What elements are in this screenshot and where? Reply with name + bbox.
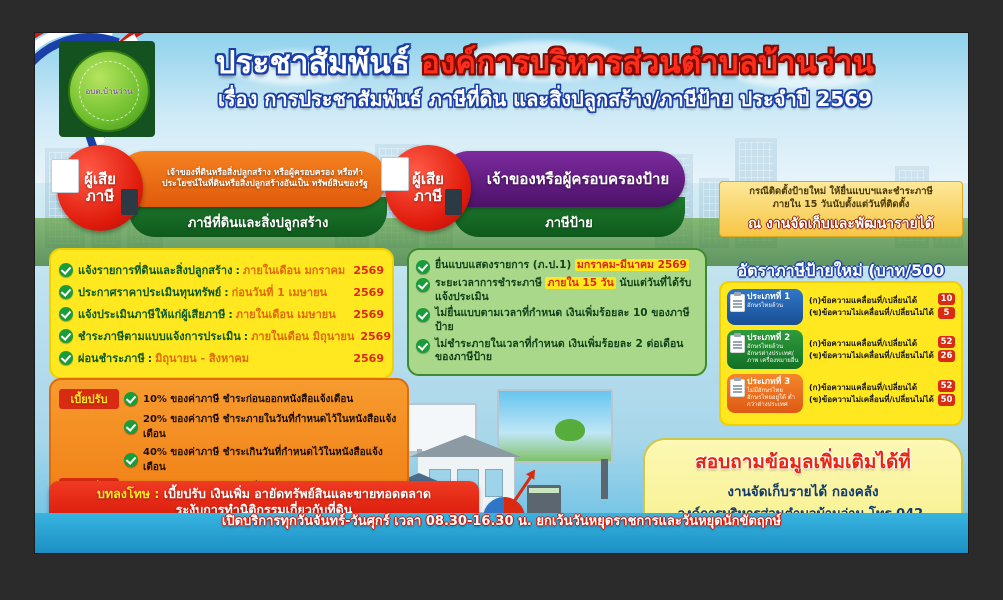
- schedule-value: ภายในเดือน มกราคม: [243, 261, 345, 279]
- schedule-value: ภายในเดือน มิถุนายน: [251, 327, 354, 345]
- rate-values: 105: [938, 293, 955, 321]
- sign-rule-row: ไม่ยื่นแบบตามเวลาที่กำหนด เงินเพิ่มร้อยล…: [416, 307, 698, 334]
- schedule-row: ชำระภาษีตามแบบแจ้งการประเมิน:ภายในเดือน …: [59, 327, 384, 345]
- rate-conditions: (ก)ข้อความแคลื่อนที่/เปลี่ยนได้(ข)ข้อควา…: [803, 382, 938, 405]
- schedule-row: แจ้งประเมินภาษีให้แก่ผู้เสียภาษี:ภายในเด…: [59, 305, 384, 323]
- check-icon: [124, 420, 138, 434]
- rate-condition: (ก)ข้อความแคลื่อนที่/เปลี่ยนได้: [809, 382, 938, 394]
- penalty-tag: [59, 426, 119, 428]
- check-icon: [59, 285, 73, 299]
- rate-values: 5226: [938, 336, 955, 364]
- rate-category-name: ประเภทที่ 2: [747, 334, 799, 343]
- title-part-one: ประชาสัมพันธ์: [216, 45, 421, 81]
- clipboard-check-icon: [730, 379, 745, 397]
- penalty-text: 10% ของค่าภาษี ชำระก่อนออกหนังสือแจ้งเตื…: [143, 392, 353, 407]
- check-icon: [416, 260, 430, 274]
- sign-rule-row: ระยะเวลาการชำระภาษี ภายใน 15 วัน นับแต่ว…: [416, 277, 698, 304]
- rate-values: 5250: [938, 380, 955, 408]
- schedule-year: 2569: [347, 308, 384, 321]
- sign-rule-row: ไม่ชำระภายในเวลาที่กำหนด เงินเพิ่มร้อยละ…: [416, 338, 698, 365]
- penalty-text: 40% ของค่าภาษี ชำระเกินวันที่กำหนดไว้ในห…: [143, 445, 399, 475]
- penalty-tag: เบี้ยปรับ: [59, 389, 119, 409]
- check-icon: [59, 329, 73, 343]
- new-sign-notice-line2: ภายใน 15 วันนับตั้งแต่วันที่ติดตั้ง: [720, 199, 962, 212]
- penalty-row: 20% ของค่าภาษี ชำระภายในวันที่กำหนดไว้ใน…: [59, 412, 399, 442]
- schedule-separator: :: [228, 308, 232, 321]
- payer-sign-label-2: ภาษี: [414, 188, 442, 205]
- new-sign-notice-office: ณ งานจัดเก็บและพัฒนารายได้: [720, 213, 962, 235]
- schedule-year: 2569: [347, 264, 384, 277]
- contact-heading: สอบถามข้อมูลเพิ่มเติมได้ที่: [655, 447, 951, 477]
- schedule-label: ชำระภาษีตามแบบแจ้งการประเมิน: [78, 327, 241, 345]
- calculator-icon: [121, 189, 138, 215]
- schedule-separator: :: [235, 264, 239, 277]
- schedule-year: 2569: [347, 352, 384, 365]
- schedule-separator: :: [224, 286, 228, 299]
- schedule-value: ก่อนวันที่ 1 เมษายน: [232, 283, 327, 301]
- rate-conditions: (ก)ข้อความแคลื่อนที่/เปลี่ยนได้(ข)ข้อควา…: [803, 338, 938, 361]
- contact-department: งานจัดเก็บรายได้ กองคลัง: [655, 480, 951, 502]
- schedule-year: 2569: [347, 286, 384, 299]
- organization-logo: อบต.บ้านว่าน: [59, 41, 155, 137]
- rate-category-name: ประเภทที่ 3: [747, 378, 799, 387]
- payer-sign-description: เจ้าของหรือผู้ครอบครองป้าย: [441, 167, 685, 191]
- schedule-label: ผ่อนชำระภาษี: [78, 349, 145, 367]
- rate-category: ประเภทที่ 3ไม่มีอักษรไทย อักษรไทยอยู่ใต้…: [727, 374, 803, 413]
- penalty-text: 20% ของค่าภาษี ชำระภายในวันที่กำหนดไว้ใน…: [143, 412, 399, 442]
- sign-tax-rate-table: ประเภทที่ 1อักษรไทยล้วน(ก)ข้อความแคลื่อน…: [719, 281, 963, 426]
- penalty-row: 40% ของค่าภาษี ชำระเกินวันที่กำหนดไว้ในห…: [59, 445, 399, 475]
- sign-tax-rules-box: ยื่นแบบแสดงรายการ (ภ.ป.1) มกราคม-มีนาคม …: [407, 248, 707, 376]
- check-icon: [416, 308, 430, 322]
- schedule-row: ผ่อนชำระภาษี:มิถุนายน - สิงหาคม2569: [59, 349, 384, 367]
- rate-condition: (ก)ข้อความแคลื่อนที่/เปลี่ยนได้: [809, 338, 938, 350]
- land-tax-schedule-box: แจ้งรายการที่ดินและสิ่งปลูกสร้าง:ภายในเด…: [49, 248, 394, 379]
- schedule-row: แจ้งรายการที่ดินและสิ่งปลูกสร้าง:ภายในเด…: [59, 261, 384, 279]
- payer-land-label-1: ผู้เสีย: [84, 171, 116, 188]
- rate-value: 26: [938, 350, 955, 362]
- clipboard-check-icon: [730, 294, 745, 312]
- rate-category-desc: อักษรไทยล้วน: [747, 303, 799, 310]
- check-icon: [59, 263, 73, 277]
- rate-value: 52: [938, 336, 955, 348]
- sign-rule-text: ยื่นแบบแสดงรายการ (ภ.ป.1) มกราคม-มีนาคม …: [435, 259, 689, 274]
- rate-category-desc: ไม่มีอักษรไทย อักษรไทยอยู่ใต้ ต่ำกว่าต่า…: [747, 388, 799, 409]
- document-icon: [51, 159, 79, 193]
- poster-canvas: อบต.บ้านว่าน ประชาสัมพันธ์ องค์การบริหาร…: [35, 33, 968, 553]
- schedule-value: ภายในเดือน เมษายน: [236, 305, 336, 323]
- house-roof: [409, 435, 521, 457]
- rate-value: 10: [938, 293, 955, 305]
- new-sign-notice-line1: กรณีติดตั้งป้ายใหม่ ให้ยื่นแบบฯและชำระภา…: [720, 186, 962, 199]
- rate-value: 52: [938, 380, 955, 392]
- rate-value: 50: [938, 394, 955, 406]
- payer-sign-label-1: ผู้เสีย: [412, 171, 444, 188]
- document-icon: [381, 157, 409, 191]
- highlight-text: มกราคม-มีนาคม 2569: [575, 259, 689, 271]
- billboard-tree-graphic: [555, 419, 585, 441]
- schedule-row: ประกาศราคาประเมินทุนทรัพย์:ก่อนวันที่ 1 …: [59, 283, 384, 301]
- schedule-label: แจ้งประเมินภาษีให้แก่ผู้เสียภาษี: [78, 305, 225, 323]
- highlight-text: ภายใน 15 วัน: [545, 277, 615, 289]
- rate-row: ประเภทที่ 3ไม่มีอักษรไทย อักษรไทยอยู่ใต้…: [727, 374, 955, 413]
- rate-row: ประเภทที่ 2อักษรไทยล้วน อักษรต่างประเทศ/…: [727, 330, 955, 369]
- check-icon: [416, 278, 430, 292]
- schedule-label: แจ้งรายการที่ดินและสิ่งปลูกสร้าง: [78, 261, 232, 279]
- rate-condition: (ข)ข้อความไม่เคลื่อนที่/เปลี่ยนไม่ได้: [809, 350, 938, 362]
- check-icon: [59, 307, 73, 321]
- schedule-separator: :: [244, 330, 248, 343]
- schedule-separator: :: [148, 352, 152, 365]
- logo-label: อบต.บ้านว่าน: [79, 61, 139, 121]
- punishment-line1: เบี้ยปรับ เงินเพิ่ม อายัดทรัพย์สินและขาย…: [164, 486, 431, 501]
- rate-category: ประเภทที่ 1อักษรไทยล้วน: [727, 289, 803, 325]
- page-subtitle: เรื่อง การประชาสัมพันธ์ ภาษีที่ดิน และสิ…: [175, 83, 915, 115]
- page-title: ประชาสัมพันธ์ องค์การบริหารส่วนตำบลบ้านว…: [175, 47, 915, 115]
- rate-conditions: (ก)ข้อความแคลื่อนที่/เปลี่ยนได้(ข)ข้อควา…: [803, 295, 938, 318]
- payer-badge-sign: ภาษีป้าย เจ้าของหรือผู้ครอบครองป้าย ผู้เ…: [385, 145, 685, 240]
- schedule-label: ประกาศราคาประเมินทุนทรัพย์: [78, 283, 221, 301]
- payer-land-description: เจ้าของที่ดินหรือสิ่งปลูกสร้าง หรือผู้คร…: [117, 168, 387, 191]
- rate-value: 5: [938, 307, 955, 319]
- rate-category: ประเภทที่ 2อักษรไทยล้วน อักษรต่างประเทศ/…: [727, 330, 803, 369]
- schedule-value: มิถุนายน - สิงหาคม: [155, 349, 249, 367]
- sign-rule-text: ระยะเวลาการชำระภาษี ภายใน 15 วัน นับแต่ว…: [435, 277, 698, 304]
- sign-rule-text: ไม่ชำระภายในเวลาที่กำหนด เงินเพิ่มร้อยละ…: [435, 338, 698, 365]
- check-icon: [59, 351, 73, 365]
- title-part-two: องค์การบริหารส่วนตำบลบ้านว่าน: [421, 45, 874, 81]
- rate-category-name: ประเภทที่ 1: [747, 293, 799, 302]
- check-icon: [124, 392, 138, 406]
- rate-category-desc: อักษรไทยล้วน อักษรต่างประเทศ/ภาพ เครื่อง…: [747, 344, 799, 365]
- rate-row: ประเภทที่ 1อักษรไทยล้วน(ก)ข้อความแคลื่อน…: [727, 289, 955, 325]
- payer-badge-land: ภาษีที่ดินและสิ่งปลูกสร้าง เจ้าของที่ดิน…: [57, 145, 387, 240]
- payer-land-label-2: ภาษี: [86, 188, 114, 205]
- schedule-year: 2569: [354, 330, 391, 343]
- check-icon: [124, 453, 138, 467]
- calculator-icon: [445, 189, 462, 215]
- sign-rule-text: ไม่ยื่นแบบตามเวลาที่กำหนด เงินเพิ่มร้อยล…: [435, 307, 698, 334]
- clipboard-check-icon: [730, 335, 745, 353]
- rate-condition: (ข)ข้อความไม่เคลื่อนที่/เปลี่ยนไม่ได้: [809, 307, 938, 319]
- punishment-title: บทลงโทษ :: [97, 486, 164, 501]
- rate-condition: (ก)ข้อความแคลื่อนที่/เปลี่ยนได้: [809, 295, 938, 307]
- service-hours-text: เปิดบริการทุกวันจันทร์-วันศุกร์ เวลา 08.…: [35, 510, 968, 531]
- check-icon: [416, 339, 430, 353]
- rate-condition: (ข)ข้อความไม่เคลื่อนที่/เปลี่ยนไม่ได้: [809, 394, 938, 406]
- penalty-tag: [59, 459, 119, 461]
- penalty-row: เบี้ยปรับ10% ของค่าภาษี ชำระก่อนออกหนังส…: [59, 389, 399, 409]
- new-sign-notice-panel: กรณีติดตั้งป้ายใหม่ ให้ยื่นแบบฯและชำระภา…: [719, 181, 963, 237]
- sign-rule-row: ยื่นแบบแสดงรายการ (ภ.ป.1) มกราคม-มีนาคม …: [416, 259, 698, 274]
